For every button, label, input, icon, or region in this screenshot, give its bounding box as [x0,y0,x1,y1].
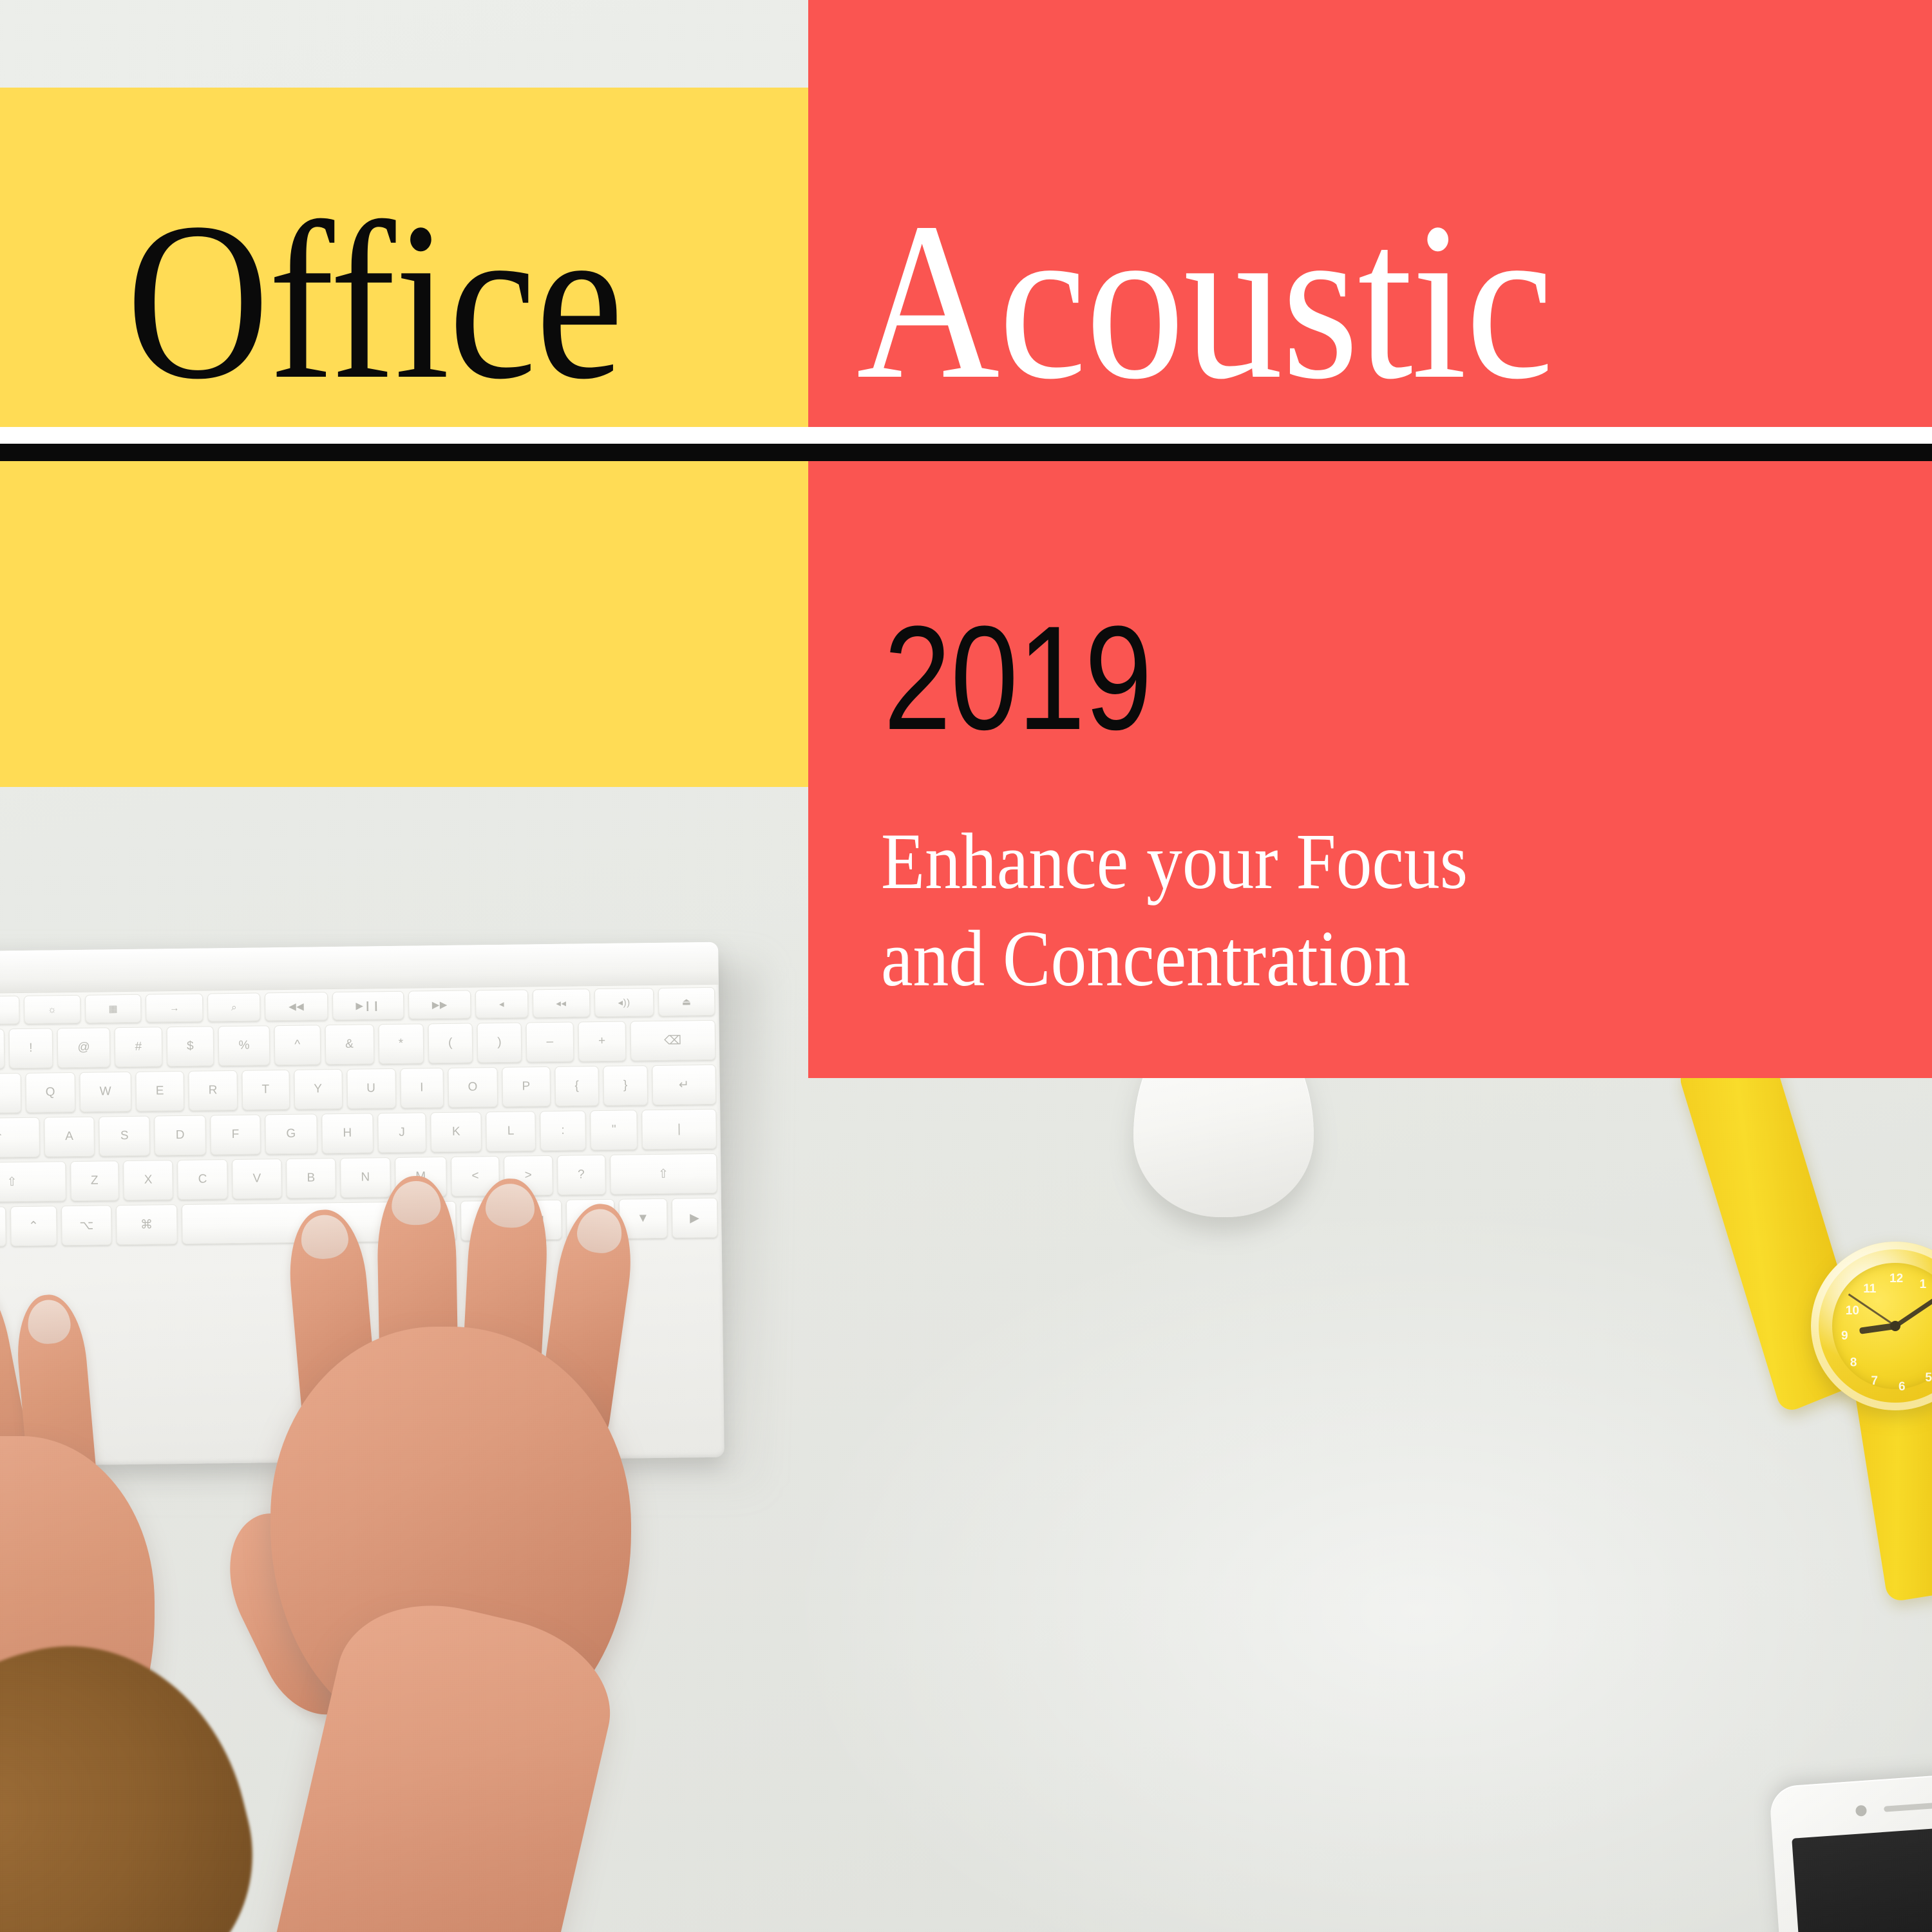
subtitle-line-2: and Concentration [881,910,1785,1007]
title-word-acoustic: Acoustic [857,188,1553,413]
subtitle-line-1: Enhance your Focus [881,813,1785,910]
white-divider-gap [0,427,1932,444]
title-word-office: Office [126,188,622,413]
subtitle: Enhance your Focus and Concentration [881,813,1785,1008]
album-cover-canvas: esc ☼ ▦ → ⌕ ◀◀ ▶❙❙ ▶▶ ◂ ◂◂ ◂)) ⏏ ~ ! @ [0,0,1932,1932]
black-divider-rule [0,444,1932,461]
year-label: 2019 [884,604,1151,752]
